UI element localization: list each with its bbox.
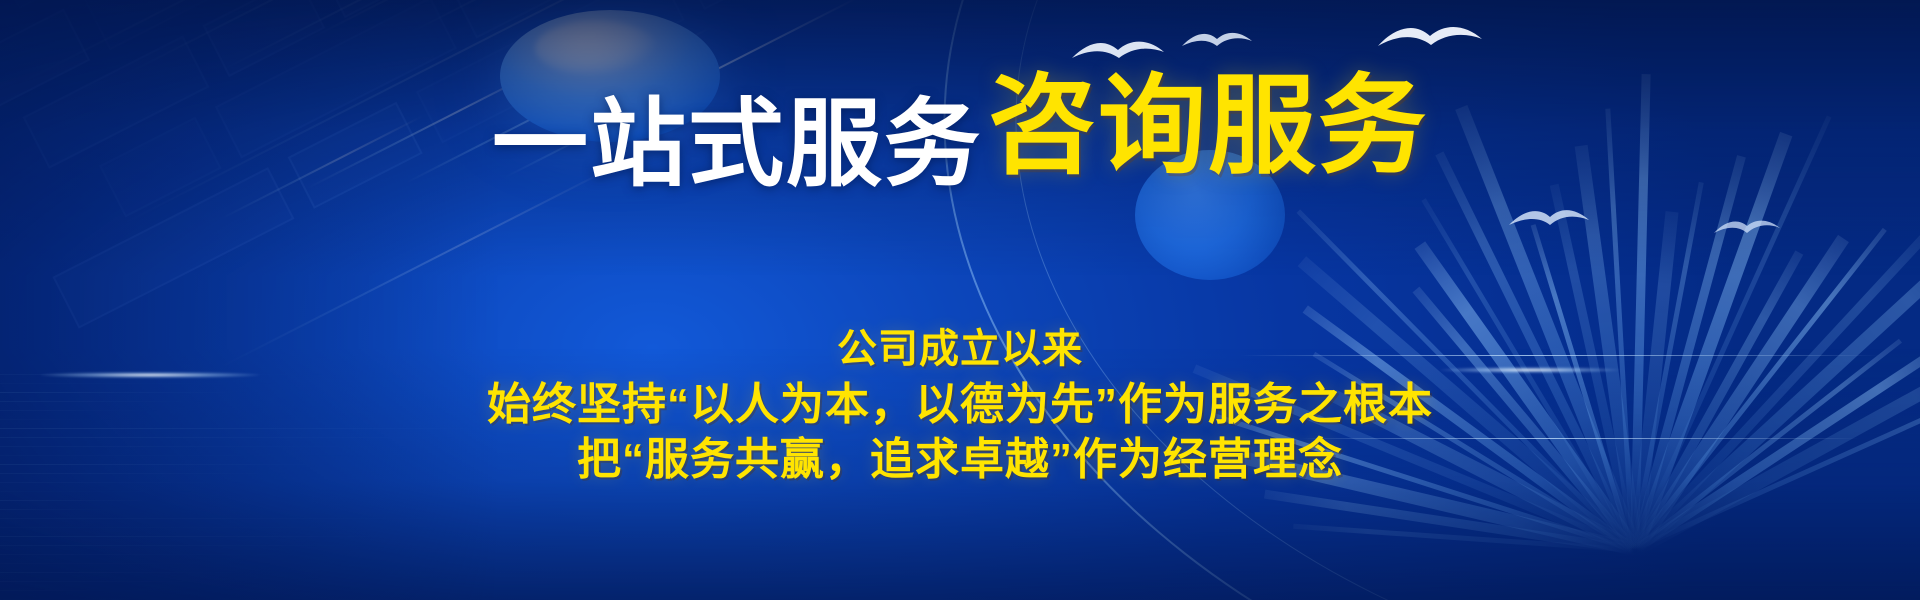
subtitle-line-1: 公司成立以来: [0, 322, 1920, 377]
subtitle-line-3: 把“服务共赢，追求卓越”作为经营理念: [0, 432, 1920, 487]
seagull-icon: [1507, 205, 1591, 235]
banner-subtitle: 公司成立以来 始终坚持“以人为本，以德为先”作为服务之根本 把“服务共赢，追求卓…: [0, 322, 1920, 487]
headline-primary-text: 一站式服务: [492, 91, 982, 198]
banner-root: 一站式服务咨询服务 公司成立以来 始终坚持“以人为本，以德为先”作为服务之根本 …: [0, 0, 1920, 600]
banner-headline: 一站式服务咨询服务: [0, 86, 1920, 194]
subtitle-line-2: 始终坚持“以人为本，以德为先”作为服务之根本: [0, 377, 1920, 432]
seagull-icon: [1712, 216, 1782, 242]
seagull-icon: [1375, 20, 1485, 60]
seagull-icon: [1180, 28, 1254, 56]
headline-accent-text: 咨询服务: [988, 65, 1428, 186]
